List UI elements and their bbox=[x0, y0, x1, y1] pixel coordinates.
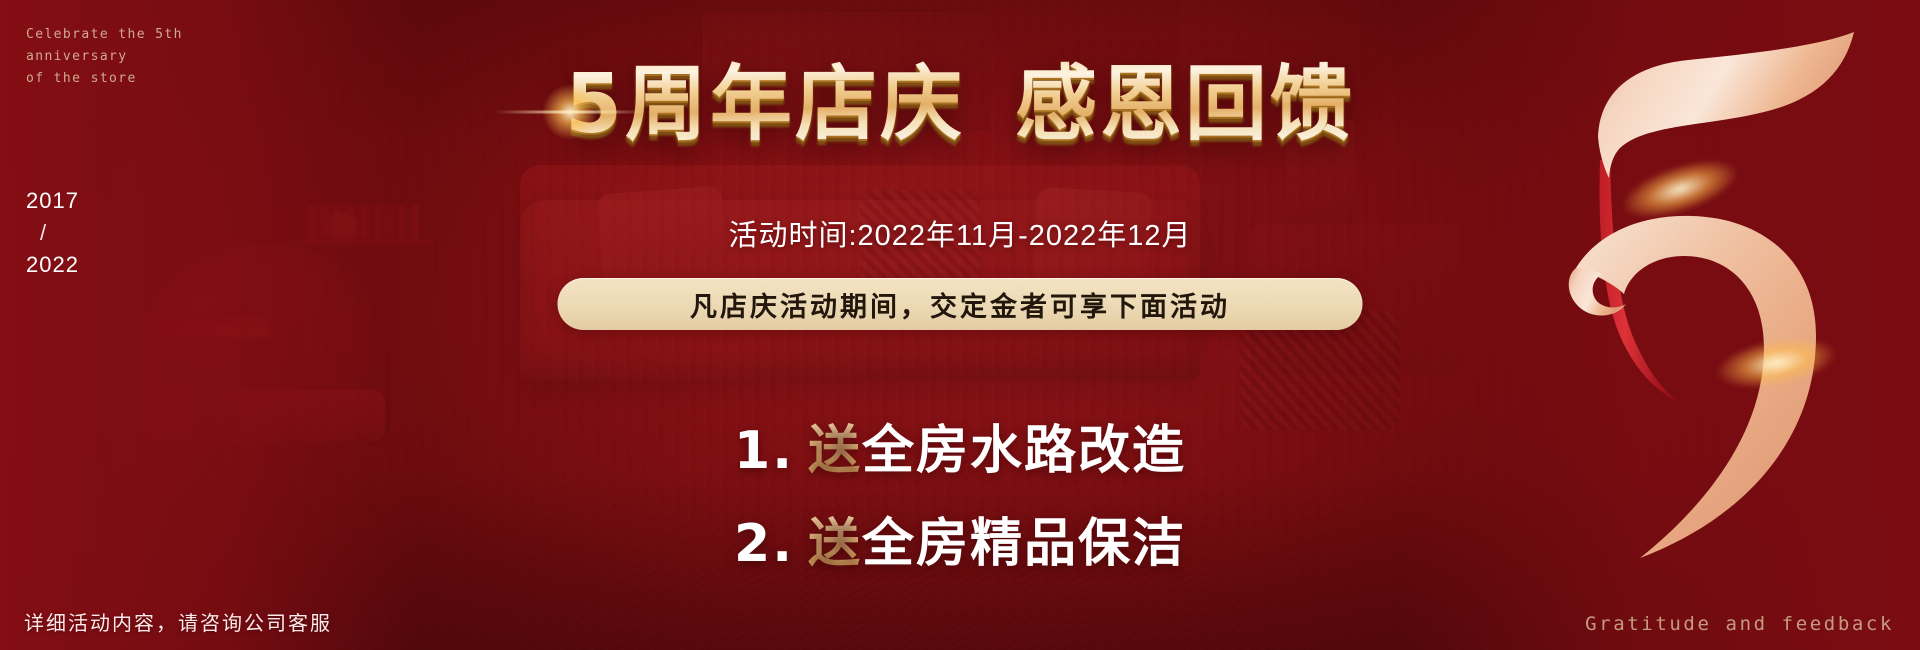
event-date-line: 活动时间:2022年11月-2022年12月 bbox=[0, 212, 1920, 254]
offer-item: 2. 送 全房精品保洁 bbox=[734, 501, 1186, 576]
year-from: 2017 bbox=[26, 188, 79, 213]
english-tagline: Celebrate the 5th anniversary of the sto… bbox=[26, 24, 183, 90]
terms-pill-banner: 凡店庆活动期间，交定金者可享下面活动 bbox=[558, 278, 1363, 330]
offer-highlight: 送 bbox=[808, 501, 862, 576]
offer-text: 全房精品保洁 bbox=[862, 501, 1186, 576]
footer-english-tagline: Gratitude and feedback bbox=[1585, 613, 1894, 635]
offer-text: 全房水路改造 bbox=[862, 408, 1186, 483]
offer-list: 1. 送 全房水路改造 2. 送 全房精品保洁 bbox=[0, 408, 1920, 576]
year-to: 2022 bbox=[26, 252, 79, 277]
footer-note: 详细活动内容，请咨询公司客服 bbox=[24, 607, 332, 636]
offer-highlight: 送 bbox=[808, 408, 862, 483]
offer-number: 1. bbox=[734, 421, 794, 481]
offer-number: 2. bbox=[734, 514, 794, 574]
offer-item: 1. 送 全房水路改造 bbox=[734, 408, 1186, 483]
anniversary-promo-banner: CHANEL bbox=[0, 0, 1920, 650]
